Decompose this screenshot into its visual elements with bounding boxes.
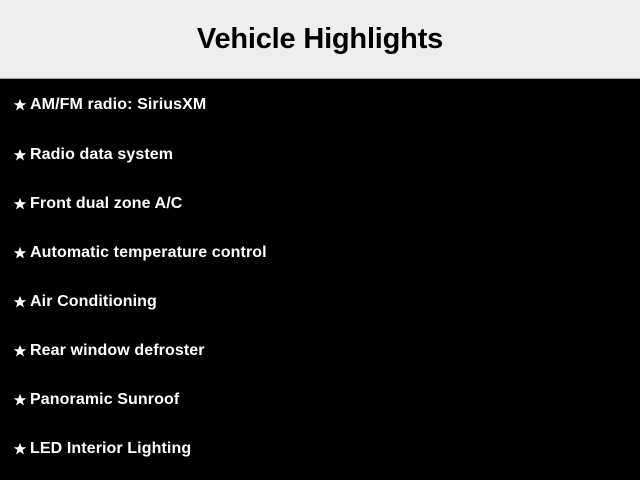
list-item: LED Interior Lighting bbox=[0, 424, 640, 473]
list-item: Air Conditioning bbox=[0, 277, 640, 326]
list-item: Panoramic Sunroof bbox=[0, 375, 640, 424]
highlight-label: LED Interior Lighting bbox=[30, 439, 191, 459]
star-icon bbox=[10, 292, 30, 312]
vehicle-highlights-page: Vehicle Highlights AM/FM radio: SiriusXM… bbox=[0, 0, 640, 480]
highlight-label: Automatic temperature control bbox=[30, 243, 267, 263]
star-icon bbox=[10, 194, 30, 214]
star-icon bbox=[10, 439, 30, 459]
highlight-label: Front dual zone A/C bbox=[30, 194, 182, 214]
highlights-list: AM/FM radio: SiriusXM Radio data system … bbox=[0, 79, 640, 480]
star-icon bbox=[10, 243, 30, 263]
list-item: Automatic temperature control bbox=[0, 228, 640, 277]
star-icon bbox=[10, 341, 30, 361]
list-item: Front dual zone A/C bbox=[0, 179, 640, 228]
highlight-label: Panoramic Sunroof bbox=[30, 390, 179, 410]
star-icon bbox=[10, 145, 30, 165]
highlight-label: AM/FM radio: SiriusXM bbox=[30, 95, 206, 115]
highlight-label: Radio data system bbox=[30, 145, 173, 165]
page-header: Vehicle Highlights bbox=[0, 0, 640, 79]
star-icon bbox=[10, 390, 30, 410]
star-icon bbox=[10, 95, 30, 115]
highlight-label: Rear window defroster bbox=[30, 341, 205, 361]
list-item: AM/FM radio: SiriusXM bbox=[0, 79, 640, 130]
highlight-label: Air Conditioning bbox=[30, 292, 157, 312]
page-title: Vehicle Highlights bbox=[197, 25, 443, 54]
list-item: Rear window defroster bbox=[0, 326, 640, 375]
list-item: Radio data system bbox=[0, 130, 640, 179]
